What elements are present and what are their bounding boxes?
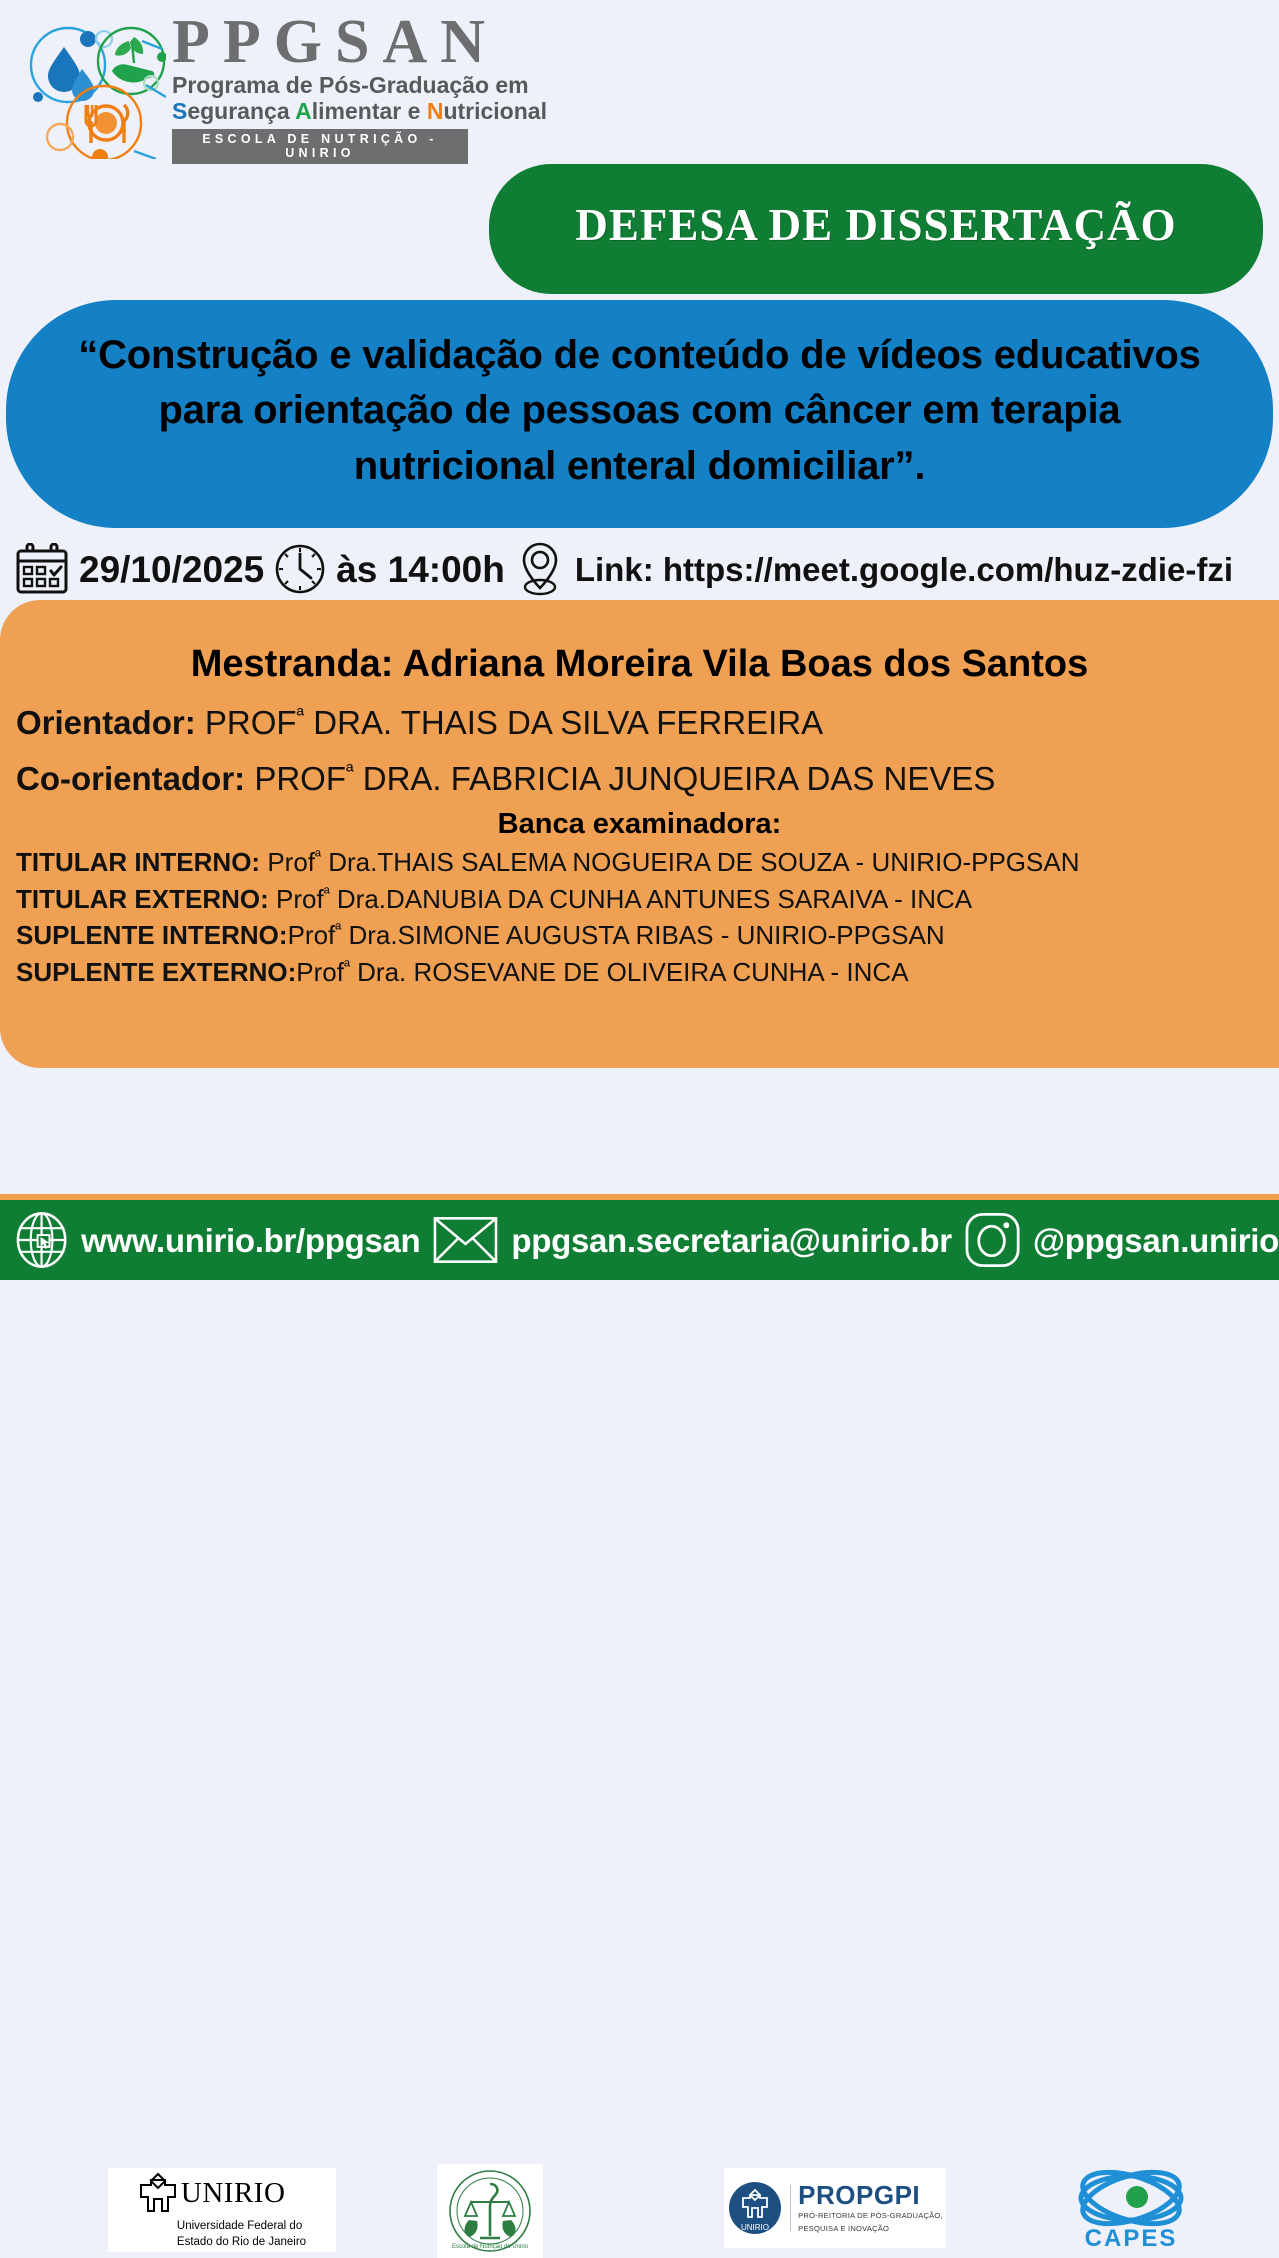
unirio-logo: UNIRIO Universidade Federal do Estado do… [108,2168,336,2252]
dissertation-title-banner: “Construção e validação de conteúdo de v… [6,300,1273,528]
ppgsan-subtitle-line1: Programa de Pós-Graduação em [172,73,547,99]
footer-website[interactable]: www.unirio.br/ppgsan [81,1224,420,1257]
propgpi-unirio-badge-icon: UNIRIO [727,2180,783,2236]
propgpi-subtitle-line1: PRÓ-REITORIA DE PÓS-GRADUAÇÃO, [798,2211,943,2221]
people-block: Mestranda: Adriana Moreira Vila Boas dos… [0,600,1279,1068]
committee-name-pre: Prof [269,884,324,914]
title-line-1: “Construção e validação de conteúdo de v… [78,328,1200,383]
ppgsan-subtitle-line2: Segurança Alimentar e Nutricional [172,99,547,125]
propgpi-badge-label: UNIRIO [741,2223,769,2232]
committee-row: SUPLENTE EXTERNO:Profª Dra. ROSEVANE DE … [16,958,1271,988]
committee-role: SUPLENTE INTERNO: [16,920,288,950]
committee-heading: Banca examinadora: [8,808,1271,841]
committee-name-post: Dra.SIMONE AUGUSTA RIBAS - UNIRIO-PPGSAN [341,920,944,950]
unirio-name: UNIRIO [181,2179,286,2208]
capes-name: CAPES [1085,2227,1178,2251]
calendar-check-icon [14,543,70,595]
student-name: Adriana Moreira Vila Boas dos Santos [403,643,1089,685]
ppgsan-school-bar: ESCOLA DE NUTRIÇÃO - UNIRIO [172,129,468,164]
coadvisor-name-pre: PROF [254,760,346,797]
escola-nutricao-caption: Escola de Nutrição do Unirio [452,2244,529,2250]
ppgsan-acronym: PPGSAN [172,13,547,72]
advisor-line: Orientador: PROFª DRA. THAIS DA SILVA FE… [16,705,1271,742]
committee-name-post: Dra.THAIS SALEMA NOGUEIRA DE SOUZA - UNI… [321,847,1079,877]
committee-name-pre: Prof [296,957,344,987]
footer-email[interactable]: ppgsan.secretaria@unirio.br [511,1224,951,1257]
event-date: 29/10/2025 [79,551,264,588]
title-line-3: nutricional enteral domiciliar”. [78,439,1200,494]
committee-name-pre: Prof [288,920,336,950]
advisor-name-ordinal: ª [297,704,305,727]
footer-contact-bar: www.unirio.br/ppgsan ppgsan.secretaria@u… [0,1200,1279,1280]
capes-logo: CAPES [1056,2162,1206,2256]
committee-row: TITULAR INTERNO: Profª Dra.THAIS SALEMA … [16,848,1271,878]
committee-name-post: Dra.DANUBIA DA CUNHA ANTUNES SARAIVA - I… [330,884,972,914]
event-type-label: DEFESA DE DISSERTAÇÃO [575,199,1176,251]
committee-name-post: Dra. ROSEVANE DE OLIVEIRA CUNHA - INCA [350,957,909,987]
student-line: Mestranda: Adriana Moreira Vila Boas dos… [8,644,1271,686]
event-link[interactable]: Link: https://meet.google.com/huz-zdie-f… [575,553,1233,586]
ppgsan-logo-text: PPGSAN Programa de Pós-Graduação em Segu… [166,13,547,163]
committee-role: TITULAR EXTERNO: [16,884,269,914]
committee-role: SUPLENTE EXTERNO: [16,957,296,987]
coadvisor-label: Co-orientador: [16,760,245,797]
poster-root: PPGSAN Programa de Pós-Graduação em Segu… [0,0,1279,1280]
sponsor-logos-strip: UNIRIO Universidade Federal do Estado do… [0,1078,1279,1188]
unirio-emblem-icon [138,2171,178,2217]
instagram-icon [964,1211,1021,1269]
ppgsan-logo-mark-icon [16,19,166,159]
committee-name-pre: Prof [260,847,315,877]
globe-icon [14,1211,69,1269]
envelope-icon [432,1213,499,1267]
escola-nutricao-seal-icon: Escola de Nutrição do Unirio [447,2168,533,2254]
propgpi-title: PROPGPI [798,2182,943,2208]
unirio-subtitle-line1: Universidade Federal do [138,2219,306,2233]
coadvisor-name-ordinal: ª [346,760,354,783]
propgpi-subtitle-line2: PESQUISA E INOVAÇÃO [798,2224,943,2234]
escola-nutricao-logo: Escola de Nutrição do Unirio [437,2164,543,2258]
footer-instagram[interactable]: @ppgsan.unirio [1033,1224,1279,1257]
event-type-banner: DEFESA DE DISSERTAÇÃO [489,164,1263,294]
advisor-label: Orientador: [16,704,196,741]
clock-icon [273,542,327,596]
event-time: às 14:00h [336,551,505,588]
committee-row: TITULAR EXTERNO: Profª Dra.DANUBIA DA CU… [16,885,1271,915]
unirio-subtitle-line2: Estado do Rio de Janeiro [138,2235,306,2249]
capes-mark-icon [1071,2167,1191,2229]
ppgsan-logo: PPGSAN Programa de Pós-Graduação em Segu… [16,16,516,161]
committee-row: SUPLENTE INTERNO:Profª Dra.SIMONE AUGUST… [16,921,1271,951]
propgpi-logo: UNIRIO PROPGPI PRÓ-REITORIA DE PÓS-GRADU… [724,2168,946,2248]
coadvisor-name-post: DRA. FABRICIA JUNQUEIRA DAS NEVES [354,760,996,797]
location-pin-icon [514,541,566,597]
committee-role: TITULAR INTERNO: [16,847,260,877]
title-line-2: para orientação de pessoas com câncer em… [78,383,1200,438]
coadvisor-line: Co-orientador: PROFª DRA. FABRICIA JUNQU… [16,761,1271,798]
student-label: Mestranda: [191,643,394,685]
dissertation-title: “Construção e validação de conteúdo de v… [78,328,1200,494]
advisor-name-pre: PROF [205,704,297,741]
advisor-name-post: DRA. THAIS DA SILVA FERREIRA [304,704,823,741]
event-info-row: 29/10/2025 às 14:00h Link: https://meet.… [14,538,1274,600]
